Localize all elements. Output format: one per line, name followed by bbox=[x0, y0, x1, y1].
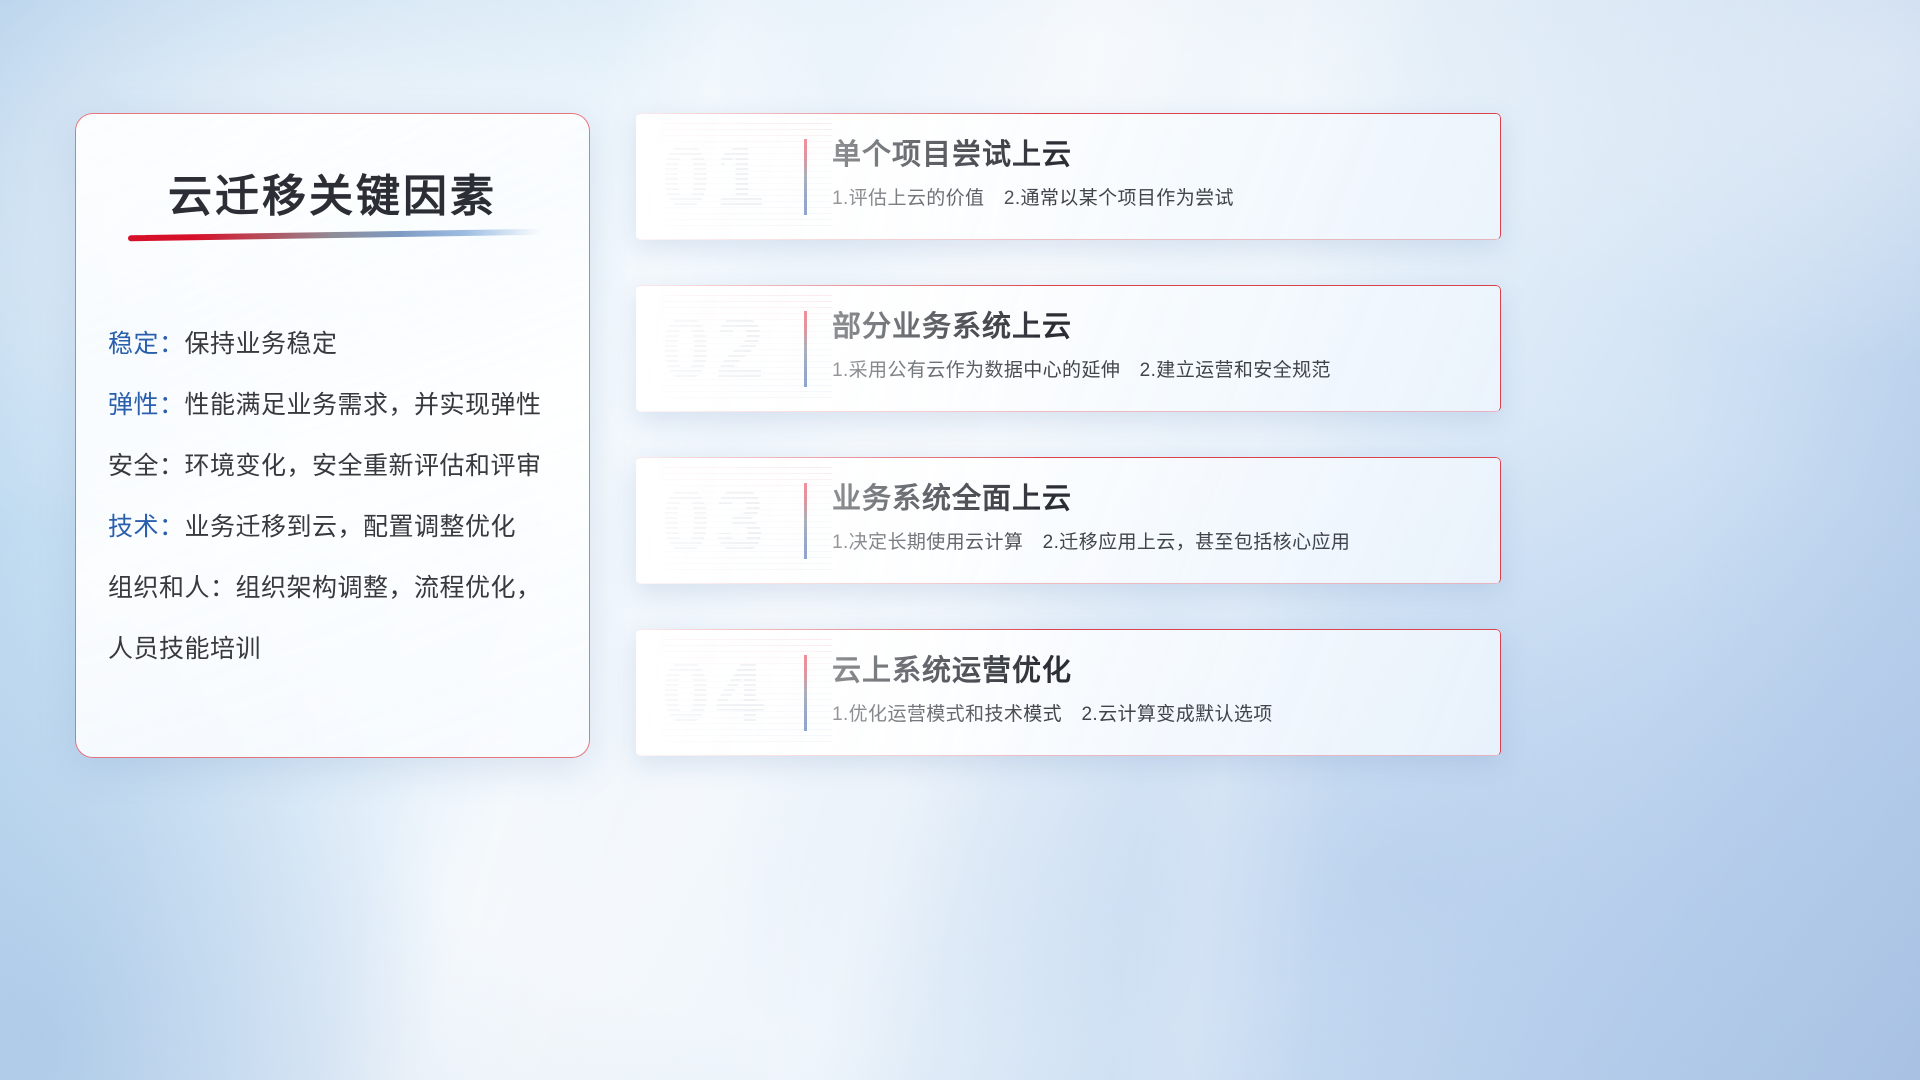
page-title: 云迁移关键因素 bbox=[76, 160, 589, 224]
factor-text: 保持业务稳定 bbox=[185, 330, 338, 358]
factor-row: 组织和人：组织架构调整，流程优化，人员技能培训 bbox=[108, 558, 565, 680]
factor-label: 组织和人： bbox=[108, 574, 236, 602]
cloud-migration-stages: 01 单个项目尝试上云 1.评估上云的价值 2.通常以某个项目作为尝试 02 部… bbox=[636, 113, 1501, 801]
stage-card-02[interactable]: 02 部分业务系统上云 1.采用公有云作为数据中心的延伸 2.建立运营和安全规范 bbox=[636, 285, 1501, 412]
stage-description: 1.决定长期使用云计算 2.迁移应用上云，甚至包括核心应用 bbox=[832, 530, 1481, 556]
title-underline-gradient bbox=[128, 229, 540, 241]
factor-label: 安全： bbox=[108, 452, 185, 480]
stage-description: 1.优化运营模式和技术模式 2.云计算变成默认选项 bbox=[832, 702, 1481, 728]
factor-label: 稳定： bbox=[108, 330, 185, 358]
stage-divider bbox=[804, 483, 807, 559]
stage-title: 云上系统运营优化 bbox=[832, 651, 1481, 691]
factor-row: 技术：业务迁移到云，配置调整优化 bbox=[108, 497, 565, 558]
stage-body: 部分业务系统上云 1.采用公有云作为数据中心的延伸 2.建立运营和安全规范 bbox=[832, 307, 1481, 384]
stage-body: 单个项目尝试上云 1.评估上云的价值 2.通常以某个项目作为尝试 bbox=[832, 135, 1481, 212]
key-factors-panel: 云迁移关键因素 稳定：保持业务稳定 弹性：性能满足业务需求，并实现弹性 安全：环… bbox=[75, 113, 590, 758]
stage-divider bbox=[804, 655, 807, 731]
stage-divider bbox=[804, 139, 807, 215]
stage-divider bbox=[804, 311, 807, 387]
factor-list: 稳定：保持业务稳定 弹性：性能满足业务需求，并实现弹性 安全：环境变化，安全重新… bbox=[108, 314, 565, 680]
stage-body: 业务系统全面上云 1.决定长期使用云计算 2.迁移应用上云，甚至包括核心应用 bbox=[832, 479, 1481, 556]
stage-description: 1.采用公有云作为数据中心的延伸 2.建立运营和安全规范 bbox=[832, 358, 1481, 384]
factor-text: 业务迁移到云，配置调整优化 bbox=[185, 513, 517, 541]
stage-card-04[interactable]: 04 云上系统运营优化 1.优化运营模式和技术模式 2.云计算变成默认选项 bbox=[636, 629, 1501, 756]
stage-card-01[interactable]: 01 单个项目尝试上云 1.评估上云的价值 2.通常以某个项目作为尝试 bbox=[636, 113, 1501, 240]
factor-row: 稳定：保持业务稳定 bbox=[108, 314, 565, 375]
stage-title: 部分业务系统上云 bbox=[832, 307, 1481, 347]
factor-text: 性能满足业务需求，并实现弹性 bbox=[185, 391, 542, 419]
stage-title: 单个项目尝试上云 bbox=[832, 135, 1481, 175]
factor-text: 环境变化，安全重新评估和评审 bbox=[185, 452, 542, 480]
stage-title: 业务系统全面上云 bbox=[832, 479, 1481, 519]
factor-row: 弹性：性能满足业务需求，并实现弹性 bbox=[108, 375, 565, 436]
stage-description: 1.评估上云的价值 2.通常以某个项目作为尝试 bbox=[832, 186, 1481, 212]
factor-row: 安全：环境变化，安全重新评估和评审 bbox=[108, 436, 565, 497]
factor-label: 技术： bbox=[108, 513, 185, 541]
stage-card-03[interactable]: 03 业务系统全面上云 1.决定长期使用云计算 2.迁移应用上云，甚至包括核心应… bbox=[636, 457, 1501, 584]
stage-body: 云上系统运营优化 1.优化运营模式和技术模式 2.云计算变成默认选项 bbox=[832, 651, 1481, 728]
factor-label: 弹性： bbox=[108, 391, 185, 419]
